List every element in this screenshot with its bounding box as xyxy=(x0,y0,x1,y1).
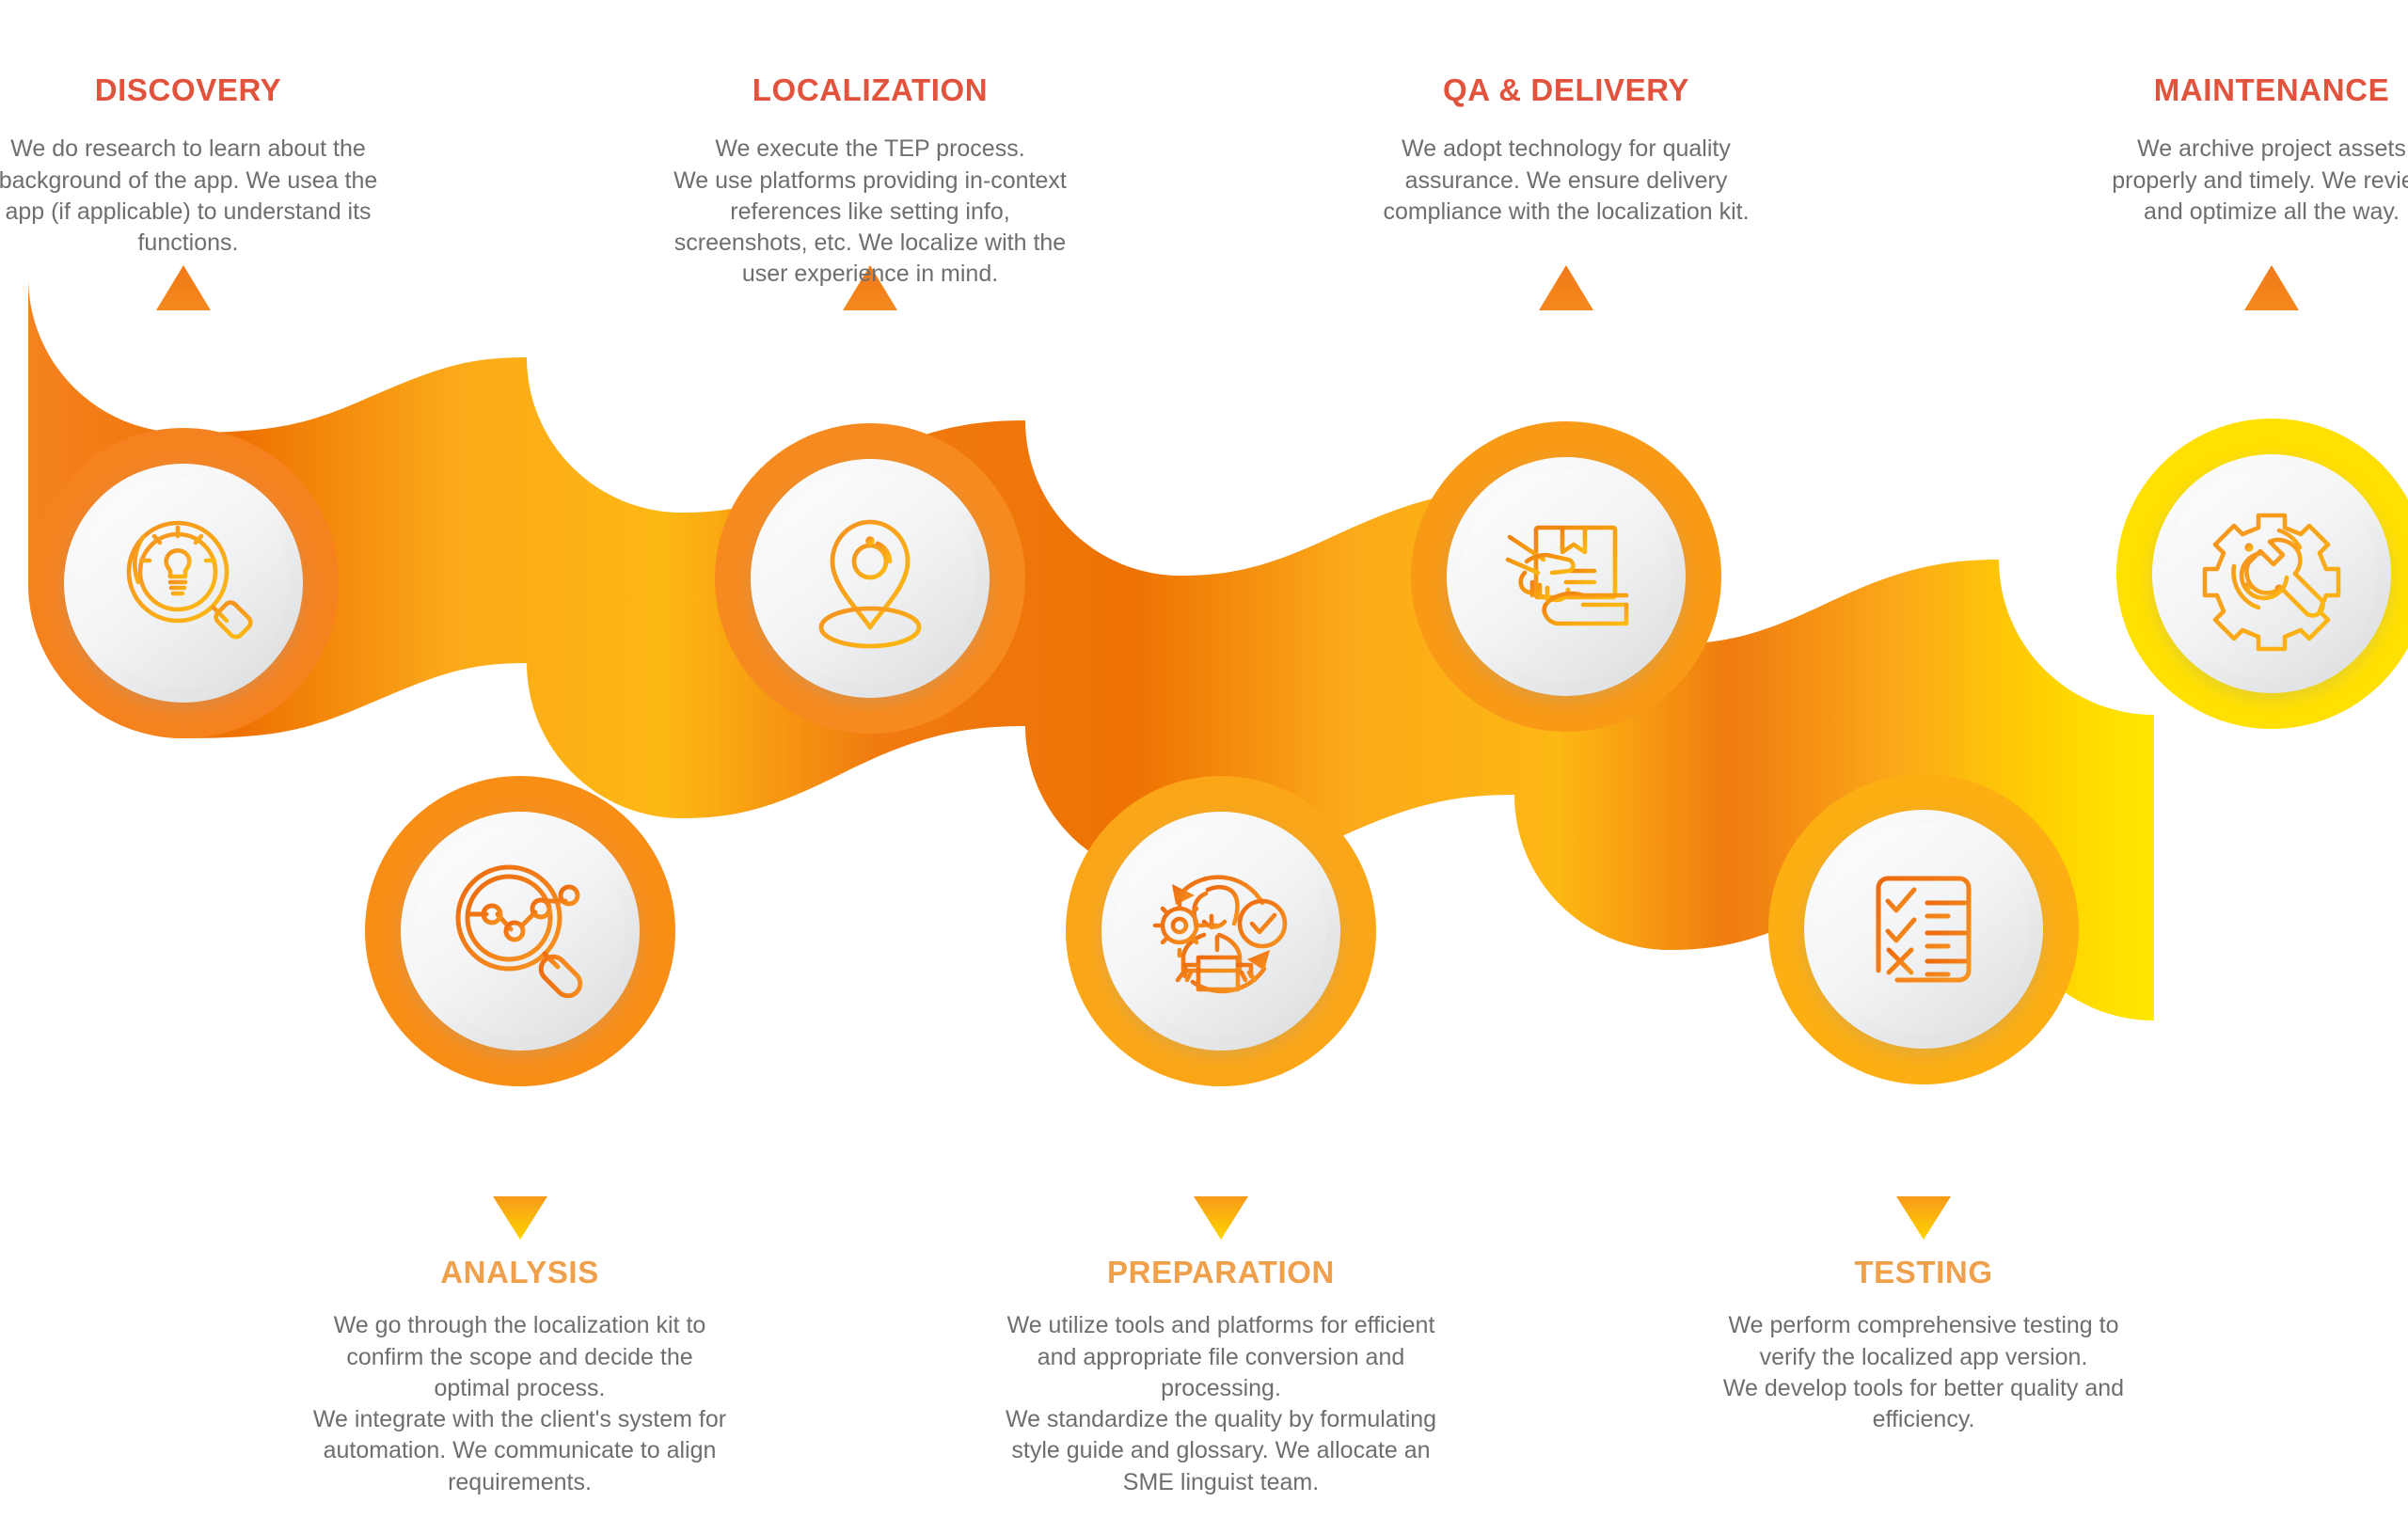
step-description-discovery: We do research to learn about the backgr… xyxy=(0,134,386,259)
step-circle-testing[interactable] xyxy=(1768,774,2079,1084)
arrow-down-testing xyxy=(1896,1087,1951,1240)
infographic-canvas: DISCOVERY We do research to learn about … xyxy=(0,0,2408,1534)
arrow-down-preparation xyxy=(1194,1089,1248,1240)
step-title-preparation: PREPARATION xyxy=(986,1256,1456,1289)
step-text-qa-delivery: QA & DELIVERY We adopt technology for qu… xyxy=(1369,73,1764,228)
step-description-localization: We execute the TEP process. We use platf… xyxy=(673,134,1068,290)
step-description-testing: We perform comprehensive testing to veri… xyxy=(1693,1310,2154,1435)
step-description-analysis: We go through the localization kit to co… xyxy=(296,1310,743,1498)
step-description-qa-delivery: We adopt technology for quality assuranc… xyxy=(1369,134,1764,228)
arrow-down-analysis xyxy=(493,1089,547,1240)
step-text-discovery: DISCOVERY We do research to learn about … xyxy=(0,73,386,259)
step-description-maintenance: We archive project assets properly and t… xyxy=(2074,134,2408,228)
step-title-localization: LOCALIZATION xyxy=(673,73,1068,107)
step-circle-qa-delivery[interactable] xyxy=(1411,421,1721,732)
step-circle-analysis[interactable] xyxy=(365,776,675,1086)
step-text-maintenance: MAINTENANCE We archive project assets pr… xyxy=(2074,73,2408,228)
step-description-preparation: We utilize tools and platforms for effic… xyxy=(986,1310,1456,1498)
step-title-analysis: ANALYSIS xyxy=(296,1256,743,1289)
step-title-testing: TESTING xyxy=(1693,1256,2154,1289)
step-title-discovery: DISCOVERY xyxy=(0,73,386,107)
step-text-preparation: PREPARATION We utilize tools and platfor… xyxy=(986,1256,1456,1498)
step-text-localization: LOCALIZATION We execute the TEP process.… xyxy=(673,73,1068,291)
step-circle-preparation[interactable] xyxy=(1066,776,1376,1086)
step-circle-maintenance[interactable] xyxy=(2116,419,2408,729)
step-title-maintenance: MAINTENANCE xyxy=(2074,73,2408,107)
step-text-analysis: ANALYSIS We go through the localization … xyxy=(296,1256,743,1498)
step-text-testing: TESTING We perform comprehensive testing… xyxy=(1693,1256,2154,1435)
arrow-up-qa-delivery xyxy=(1539,265,1593,419)
step-title-qa-delivery: QA & DELIVERY xyxy=(1369,73,1764,107)
arrow-up-discovery xyxy=(156,265,211,425)
arrow-up-maintenance xyxy=(2244,265,2299,417)
